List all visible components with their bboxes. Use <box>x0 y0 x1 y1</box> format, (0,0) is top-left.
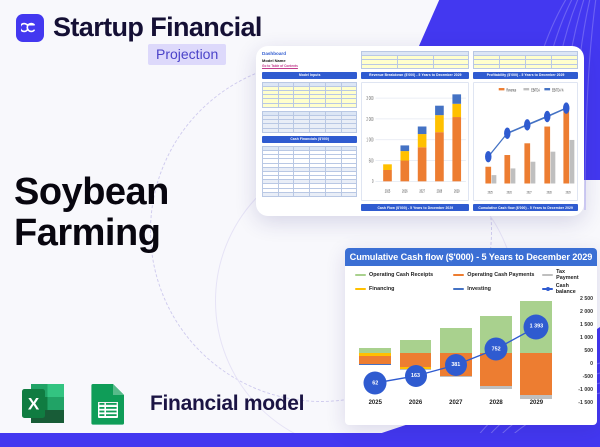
chart-legend: Operating Cash Receipts Operating Cash P… <box>345 266 597 297</box>
file-format-label: Financial model <box>150 392 304 416</box>
svg-text:EBITDA: EBITDA <box>531 87 540 92</box>
dashboard-preview-card[interactable]: Dashboard Model Name Go to Table of Cont… <box>256 46 584 216</box>
mini-table-financials <box>262 146 357 197</box>
mini-table-inputs <box>262 82 357 108</box>
legend-item-investing[interactable]: Investing <box>453 283 542 295</box>
data-point-2029[interactable]: 1 393 <box>524 314 549 339</box>
swirl-e-icon <box>16 14 44 42</box>
svg-text:2027: 2027 <box>420 187 426 193</box>
svg-text:500: 500 <box>369 157 374 163</box>
brand-header: Startup Financial <box>16 12 262 43</box>
svg-text:2029: 2029 <box>454 187 460 193</box>
legend-swatch <box>542 274 553 277</box>
svg-text:EBITDA %: EBITDA % <box>552 87 564 92</box>
legend-item-cash-balance[interactable]: Cash balance <box>542 283 589 295</box>
chart-y-axis: 2 500 2 000 1 500 1 000 500 0 -500 -1 00… <box>567 297 593 401</box>
legend-swatch <box>542 288 553 290</box>
chart-bars: 62 163 381 752 1 393 <box>353 297 565 401</box>
svg-text:X: X <box>28 395 40 414</box>
section-bar-cash-financials: Cash Financials ($'000) <box>262 136 357 143</box>
brand-subtitle: Projection <box>148 44 226 65</box>
google-sheets-icon <box>82 378 134 430</box>
dashboard-column-left: Dashboard Model Name Go to Table of Cont… <box>262 51 357 211</box>
mini-table-project-assumptions <box>473 51 578 69</box>
legend-swatch <box>355 274 366 277</box>
dashboard-heading: Dashboard Model Name Go to Table of Cont… <box>262 51 357 69</box>
chart-x-axis: 2025 2026 2027 2028 2029 <box>353 400 565 414</box>
svg-text:2 000: 2 000 <box>367 116 375 122</box>
page-title: Soybean Farming <box>14 172 169 254</box>
page-title-line1: Soybean <box>14 172 169 213</box>
svg-text:0: 0 <box>372 178 374 184</box>
data-point-2028[interactable]: 752 <box>485 338 508 361</box>
legend-swatch <box>355 288 366 291</box>
mini-table-assumptions <box>361 51 469 69</box>
legend-swatch <box>453 288 464 291</box>
svg-text:2028: 2028 <box>547 190 552 195</box>
legend-swatch <box>453 274 464 277</box>
chart-title: Cumulative Cash flow ($'000) - 5 Years t… <box>345 248 597 266</box>
profitability-chart: Revenue EBITDA EBITDA % <box>473 82 578 201</box>
svg-text:Revenue: Revenue <box>507 87 517 92</box>
svg-text:2026: 2026 <box>403 187 409 193</box>
section-bar-cumulative-cash: Cumulative Cash flow ($'000) - 5 Years t… <box>473 204 578 211</box>
mini-table-volumes <box>262 111 357 133</box>
svg-text:2029: 2029 <box>566 190 571 195</box>
section-bar-profitability: Profitability ($'000) - 5 Years to Decem… <box>473 72 578 79</box>
page-title-line2: Farming <box>14 213 169 254</box>
background-bottom-strip <box>0 433 600 447</box>
svg-text:2025: 2025 <box>385 187 391 193</box>
svg-text:2026: 2026 <box>507 190 512 195</box>
revenue-breakdown-chart: 3 000 2 000 1 000 500 0 <box>361 82 469 201</box>
legend-item-financing[interactable]: Financing <box>355 283 453 295</box>
legend-item-operating-cash-payments[interactable]: Operating Cash Payments <box>453 269 542 281</box>
file-format-row: X Financial model <box>18 378 304 430</box>
dashboard-toc-link[interactable]: Go to Table of Contents <box>262 64 357 69</box>
svg-text:1 000: 1 000 <box>367 136 375 142</box>
legend-item-tax-payment[interactable]: Tax Payment <box>542 269 589 281</box>
data-point-2026[interactable]: 163 <box>405 365 427 387</box>
chart-plot-area: 62 163 381 752 1 393 2 500 2 000 1 500 1… <box>347 297 595 413</box>
poster-canvas: Startup Financial Projection Soybean Far… <box>0 0 600 447</box>
section-bar-cash-flow: Cash Flow ($'000) - 5 Years to December … <box>361 204 469 211</box>
svg-text:2027: 2027 <box>527 190 532 195</box>
dashboard-column-right: Profitability ($'000) - 5 Years to Decem… <box>473 51 578 211</box>
section-bar-model-inputs: Model Inputs <box>262 72 357 79</box>
dashboard-column-middle: Revenue Breakdown ($'000) - 5 Years to D… <box>361 51 469 211</box>
section-bar-revenue-breakdown: Revenue Breakdown ($'000) - 5 Years to D… <box>361 72 469 79</box>
brand-name: Startup Financial <box>53 12 262 43</box>
legend-item-operating-cash-receipts[interactable]: Operating Cash Receipts <box>355 269 453 281</box>
cumulative-cash-flow-card[interactable]: Cumulative Cash flow ($'000) - 5 Years t… <box>345 248 597 425</box>
svg-text:2028: 2028 <box>437 187 443 193</box>
microsoft-excel-icon: X <box>18 378 70 430</box>
data-point-2027[interactable]: 381 <box>445 354 467 376</box>
svg-text:3 000: 3 000 <box>367 95 375 101</box>
svg-text:2025: 2025 <box>488 190 493 195</box>
data-point-2025[interactable]: 62 <box>364 372 387 395</box>
